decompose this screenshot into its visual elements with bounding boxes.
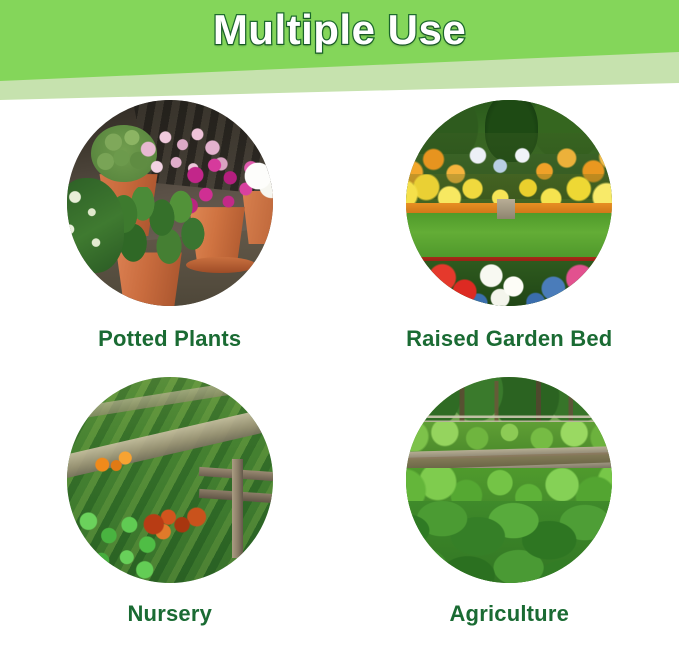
use-case-grid: Potted Plants Raised Garden Bed [0,100,679,650]
white-flowers [240,158,273,203]
lawn [406,213,612,260]
foreground-lettuce-row [406,501,612,583]
card-caption: Nursery [127,601,212,627]
use-case-card-nursery: Nursery [0,375,340,650]
use-case-card-potted-plants: Potted Plants [0,100,340,375]
nursery-photo [67,377,273,583]
use-case-card-agriculture: Agriculture [340,375,679,650]
raised-garden-bed-photo [406,100,612,306]
garden-path [497,199,516,220]
header-banner: Multiple Use [0,0,679,100]
lower-flower-bed [406,261,612,306]
potted-plants-photo [67,100,273,306]
agriculture-photo [406,377,612,583]
multiple-use-infographic: Multiple Use Potted Plants [0,0,679,650]
card-caption: Potted Plants [98,326,241,352]
page-title: Multiple Use [0,6,679,54]
use-case-card-raised-garden-bed: Raised Garden Bed [340,100,679,375]
card-caption: Raised Garden Bed [406,326,612,352]
card-caption: Agriculture [449,601,569,627]
fence-post [232,459,243,558]
nasturtium-foliage [67,505,178,583]
